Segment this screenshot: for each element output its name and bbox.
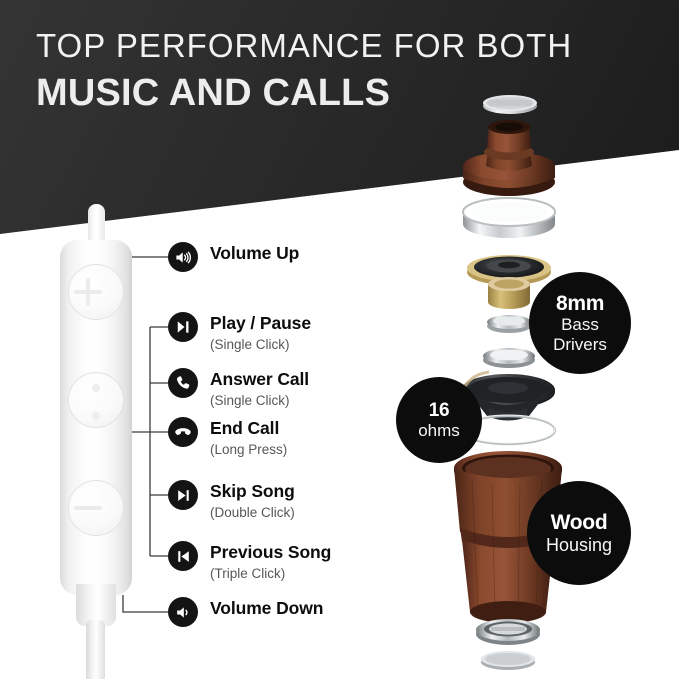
legend-title: End Call xyxy=(210,418,287,439)
infographic-canvas: TOP PERFORMANCE FOR BOTH MUSIC AND CALLS xyxy=(0,0,679,679)
badge-headline: Wood xyxy=(551,511,608,535)
legend-subtitle: (Double Click) xyxy=(210,503,295,522)
feature-badge-impedance: 16 ohms xyxy=(396,377,482,463)
badge-subline-1: Bass xyxy=(561,315,599,335)
legend-row-volume-up: Volume Up xyxy=(168,242,299,272)
legend-text: Answer Call (Single Click) xyxy=(210,368,309,410)
legend-text: Previous Song (Triple Click) xyxy=(210,541,331,583)
legend-subtitle: (Triple Click) xyxy=(210,564,331,583)
volume-up-icon xyxy=(168,242,198,272)
play-pause-icon xyxy=(168,312,198,342)
legend-row-volume-down: Volume Down xyxy=(168,597,323,627)
legend-subtitle: (Single Click) xyxy=(210,335,311,354)
legend-title: Answer Call xyxy=(210,369,309,390)
legend-title: Skip Song xyxy=(210,481,295,502)
legend-row-skip-song: Skip Song (Double Click) xyxy=(168,480,295,522)
legend-row-answer-call: Answer Call (Single Click) xyxy=(168,368,309,410)
multifunction-dot-lower xyxy=(92,412,100,420)
minus-icon xyxy=(74,506,102,510)
answer-call-icon xyxy=(168,368,198,398)
legend-text: Volume Up xyxy=(210,242,299,265)
badge-headline: 8mm xyxy=(556,292,604,315)
legend-title: Volume Down xyxy=(210,598,323,619)
multifunction-dot-upper xyxy=(92,384,100,392)
legend-title: Previous Song xyxy=(210,542,331,563)
skip-next-icon xyxy=(168,480,198,510)
badge-headline: 16 xyxy=(429,400,450,421)
volume-down-icon xyxy=(168,597,198,627)
legend-text: Play / Pause (Single Click) xyxy=(210,312,311,354)
badge-subline-1: ohms xyxy=(418,421,460,441)
legend-text: Volume Down xyxy=(210,597,323,620)
end-call-icon xyxy=(168,417,198,447)
skip-previous-icon xyxy=(168,541,198,571)
feature-badge-bass-drivers: 8mm Bass Drivers xyxy=(529,272,631,374)
legend-text: End Call (Long Press) xyxy=(210,417,287,459)
plus-icon-bar xyxy=(74,290,102,294)
legend-subtitle: (Long Press) xyxy=(210,440,287,459)
legend-row-previous-song: Previous Song (Triple Click) xyxy=(168,541,331,583)
legend-text: Skip Song (Double Click) xyxy=(210,480,295,522)
feature-badge-wood-housing: Wood Housing xyxy=(527,481,631,585)
legend-row-play-pause: Play / Pause (Single Click) xyxy=(168,312,311,354)
legend-subtitle: (Single Click) xyxy=(210,391,309,410)
legend-title: Volume Up xyxy=(210,243,299,264)
remote-cable-upper xyxy=(88,204,105,244)
badge-subline-2: Drivers xyxy=(553,335,607,355)
legend-title: Play / Pause xyxy=(210,313,311,334)
badge-subline-1: Housing xyxy=(546,535,612,556)
legend-row-end-call: End Call (Long Press) xyxy=(168,417,287,459)
remote-cable-lower xyxy=(86,620,105,679)
